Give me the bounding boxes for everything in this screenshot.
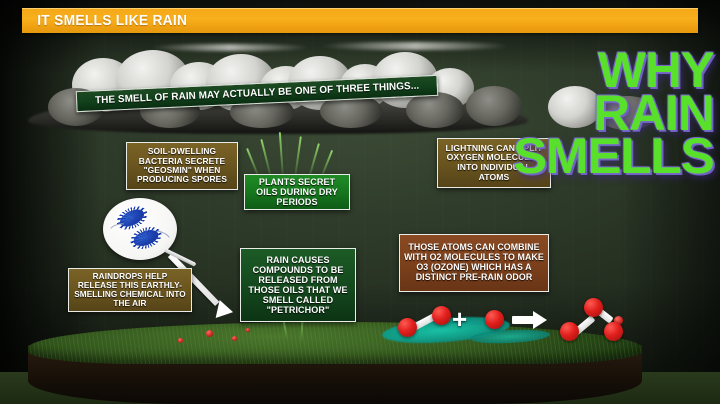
oxygen-atom: [398, 318, 417, 337]
molecule-o3: [560, 298, 624, 346]
droplet: [246, 328, 250, 332]
plus-sign: +: [452, 306, 467, 332]
fact-box-plant-oils-text: PLANTS SECRET OILS DURING DRY PERIODS: [249, 177, 345, 207]
fact-box-plant-oils[interactable]: PLANTS SECRET OILS DURING DRY PERIODS: [244, 174, 350, 210]
arrow-tail: [512, 316, 534, 324]
fact-box-ozone-text: THOSE ATOMS CAN COMBINE WITH O2 MOLECULE…: [404, 243, 544, 282]
lower-third-title: IT SMELLS LIKE RAIN: [22, 13, 187, 29]
lower-third-banner: IT SMELLS LIKE RAIN: [22, 8, 698, 33]
fact-box-soil-bacteria[interactable]: SOIL-DWELLING BACTERIA SECRETE "GEOSMIN"…: [126, 142, 238, 190]
droplet: [232, 336, 237, 341]
magnifier-bacteria-illustration: [103, 198, 177, 260]
molecule-o: [485, 310, 509, 334]
headline-line-3: SMELLS: [513, 136, 714, 177]
fact-box-raindrops[interactable]: RAINDROPS HELP RELEASE THIS EARTHLY-SMEL…: [68, 268, 192, 312]
molecule-o2: [398, 304, 456, 344]
droplet: [206, 330, 213, 337]
lower-third-bar: IT SMELLS LIKE RAIN: [22, 8, 698, 33]
oxygen-atom: [604, 322, 623, 341]
droplet: [178, 338, 183, 343]
fact-box-petrichor-text: RAIN CAUSES COMPOUNDS TO BE RELEASED FRO…: [245, 255, 351, 315]
fact-box-petrichor[interactable]: RAIN CAUSES COMPOUNDS TO BE RELEASED FRO…: [240, 248, 356, 322]
oxygen-atom: [560, 322, 579, 341]
fact-box-raindrops-text: RAINDROPS HELP RELEASE THIS EARTHLY-SMEL…: [73, 272, 187, 309]
page-title: WHY RAIN SMELLS: [517, 50, 714, 177]
oxygen-atom: [584, 298, 603, 317]
reaction-arrow: [512, 310, 550, 330]
oxygen-atom: [485, 310, 504, 329]
fact-box-soil-bacteria-text: SOIL-DWELLING BACTERIA SECRETE "GEOSMIN"…: [131, 147, 233, 185]
oxygen-atom: [432, 306, 451, 325]
fact-box-ozone[interactable]: THOSE ATOMS CAN COMBINE WITH O2 MOLECULE…: [399, 234, 549, 292]
video-frame: THE SMELL OF RAIN MAY ACTUALLY BE ONE OF…: [0, 0, 720, 404]
arrow-tip: [533, 311, 547, 329]
